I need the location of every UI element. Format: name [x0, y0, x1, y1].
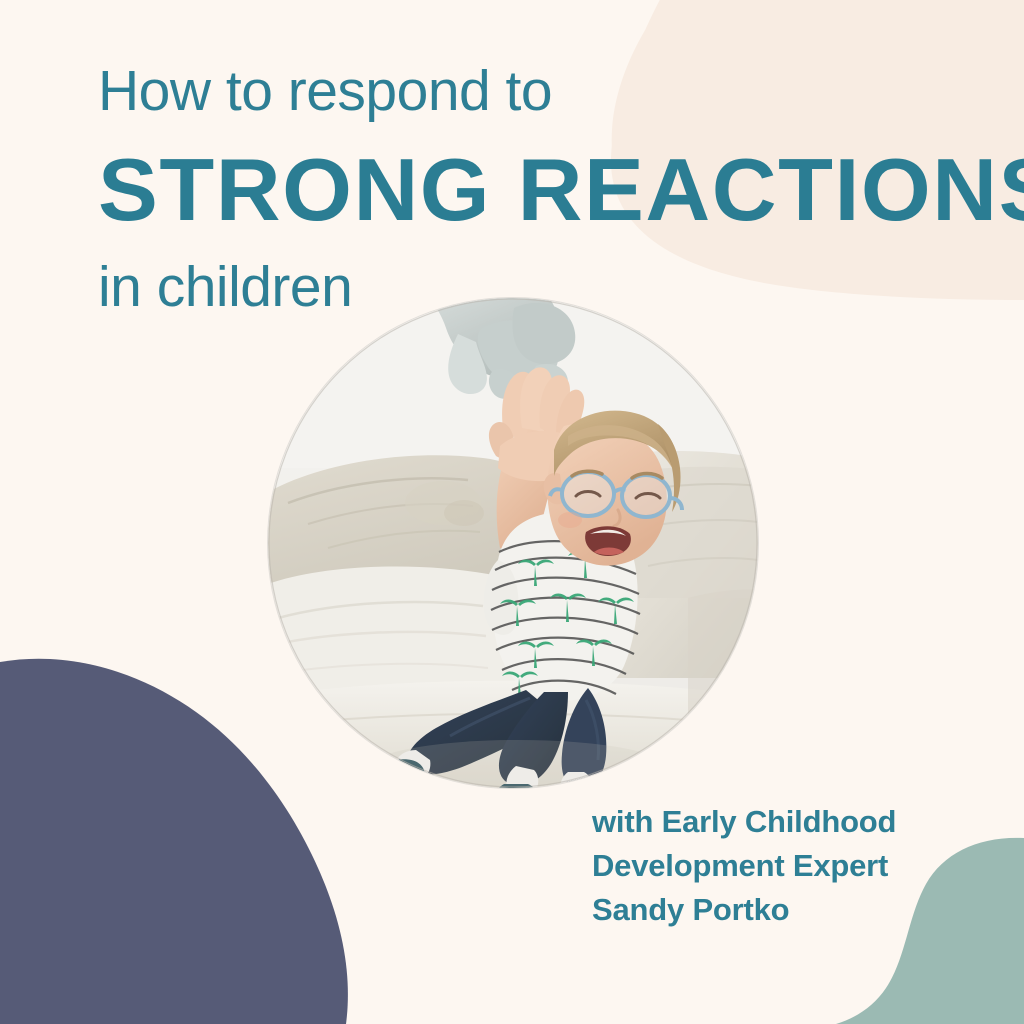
- credit-line-2: Development Expert: [592, 844, 992, 888]
- slate-blob-bottom-left: [0, 659, 348, 1024]
- headline-line-2: STRONG REACTIONS: [98, 146, 934, 234]
- credit-line-1: with Early Childhood: [592, 800, 992, 844]
- headline-block: How to respond to STRONG REACTIONS in ch…: [98, 62, 918, 318]
- headline-line-1: How to respond to: [98, 62, 918, 122]
- credit-block: with Early Childhood Development Expert …: [592, 800, 992, 932]
- hero-photo-illustration: [268, 298, 758, 788]
- hero-photo-circle: [268, 298, 758, 788]
- promo-graphic-canvas: How to respond to STRONG REACTIONS in ch…: [0, 0, 1024, 1024]
- credit-line-3: Sandy Portko: [592, 888, 992, 932]
